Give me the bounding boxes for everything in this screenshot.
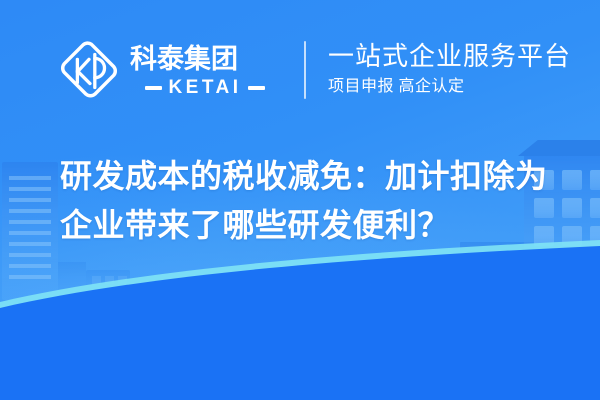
slogan-sub: 项目申报 高企认定 [328, 75, 571, 99]
header-divider [304, 41, 306, 99]
slogan-main: 一站式企业服务平台 [328, 41, 571, 72]
promo-banner: 科泰集团 KETAI 一站式企业服务平台 项目申报 高企认定 研发成本的税收减免… [0, 0, 600, 400]
page-title: 研发成本的税收减免：加计扣除为企业带来了哪些研发便利？ [60, 152, 560, 249]
brand-name-en: KETAI [168, 78, 241, 97]
brand-name-en-row: KETAI [145, 78, 264, 97]
brand-wordmark: 科泰集团 KETAI [130, 43, 280, 97]
brand-name-cn-icon: 科泰集团 [130, 43, 280, 75]
wordmark-dash-left [145, 86, 162, 90]
ketai-kp-diamond-logo-icon [58, 39, 120, 101]
brand-logo[interactable]: 科泰集团 KETAI [58, 39, 280, 101]
wordmark-dash-right [248, 86, 265, 90]
banner-header: 科泰集团 KETAI 一站式企业服务平台 项目申报 高企认定 [0, 0, 600, 140]
brand-name-cn-text: 科泰集团 [130, 43, 238, 74]
slogan-block: 一站式企业服务平台 项目申报 高企认定 [328, 41, 571, 100]
ground-wave-curve [0, 240, 600, 400]
